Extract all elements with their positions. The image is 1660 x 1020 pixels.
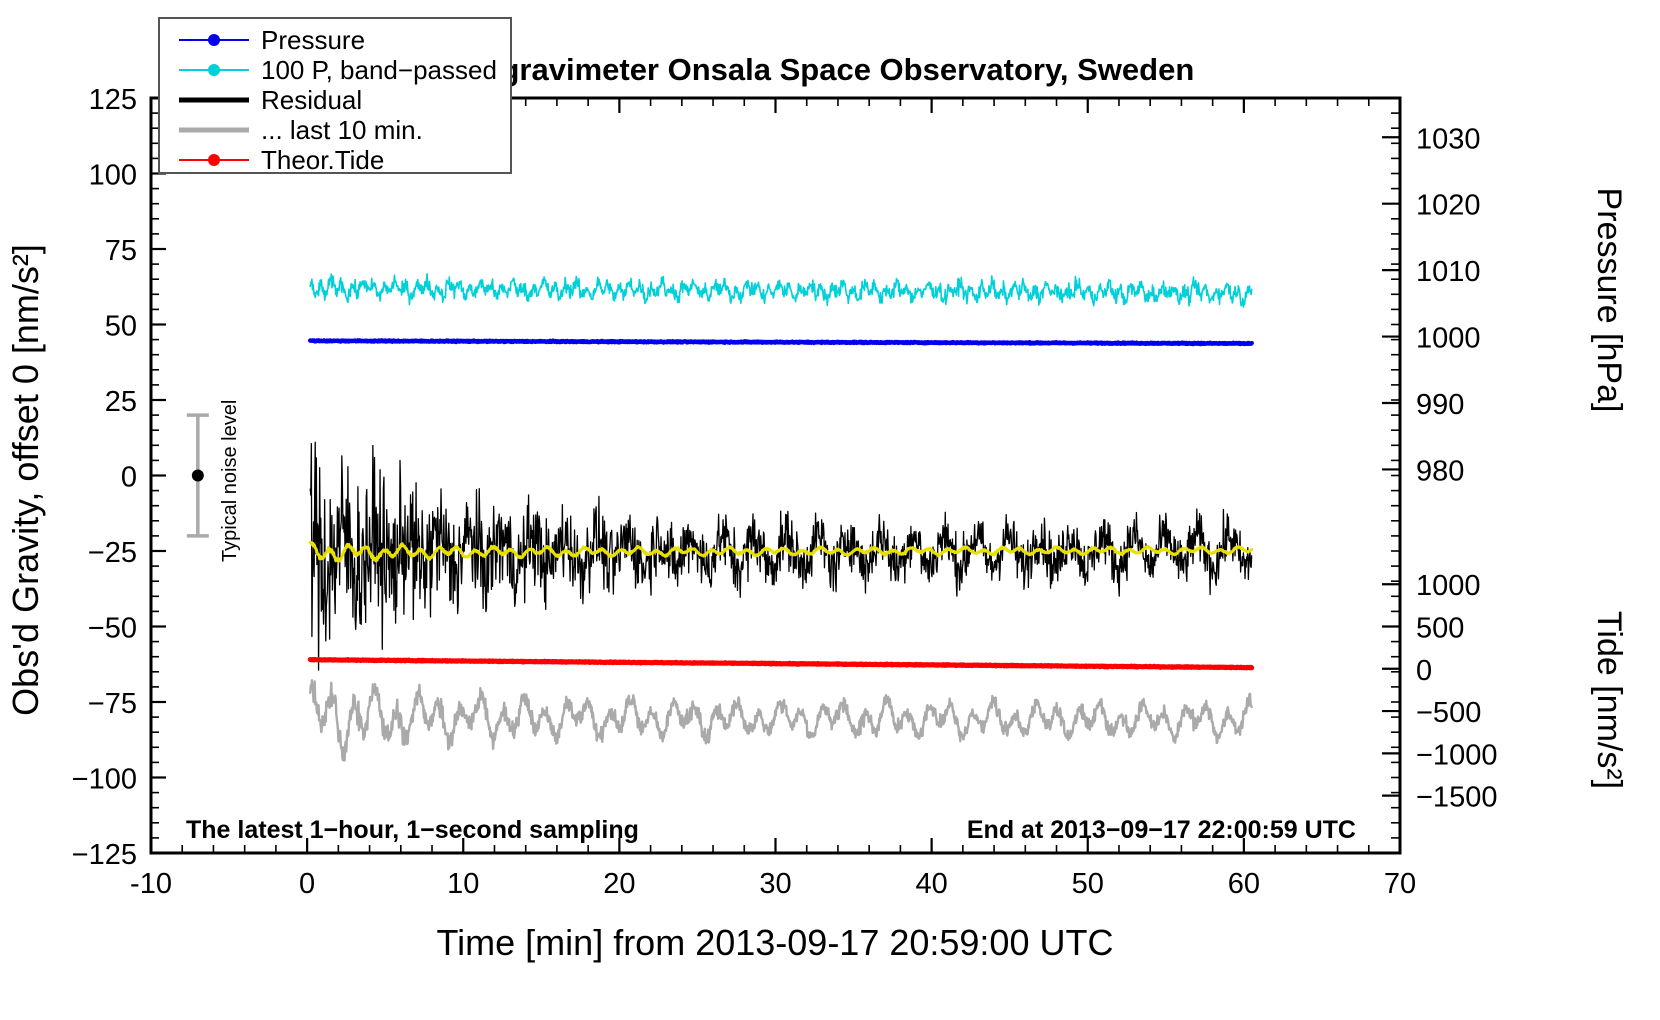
x-axis-title: Time [min] from 2013-09-17 20:59:00 UTC xyxy=(437,922,1114,963)
y-tick-label: 100 xyxy=(89,160,137,192)
x-tick-label: 50 xyxy=(1072,868,1104,900)
right-tide-tick-label: −1000 xyxy=(1416,739,1497,771)
y-tick-label: 0 xyxy=(121,462,137,494)
noise-center-dot xyxy=(192,470,204,482)
x-tick-label: 60 xyxy=(1228,868,1260,900)
y-tick-label: −50 xyxy=(88,613,137,645)
right-pressure-tick-label: 1020 xyxy=(1416,190,1481,222)
x-tick-label: 10 xyxy=(447,868,479,900)
right-tide-tick-label: 0 xyxy=(1416,655,1432,687)
right-pressure-tick-label: 1010 xyxy=(1416,256,1481,288)
y-axis-title: Obs'd Gravity, offset 0 [nm/s²] xyxy=(5,244,46,716)
legend-marker-dot xyxy=(208,154,220,166)
legend-marker-dot xyxy=(208,64,220,76)
right-tide-tick-label: 500 xyxy=(1416,613,1464,645)
legend-label: 100 P, band−passed xyxy=(261,55,497,85)
y-tick-label: −125 xyxy=(72,839,137,871)
y-tick-label: 25 xyxy=(105,386,137,418)
y-tick-label: 75 xyxy=(105,235,137,267)
gravimeter-plot-figure: Typical noise level -10010203040506070−1… xyxy=(0,0,1660,1020)
right-pressure-tick-label: 1000 xyxy=(1416,323,1481,355)
y-tick-label: −100 xyxy=(72,764,137,796)
x-tick-label: -10 xyxy=(130,868,172,900)
right-axis-title-pressure: Pressure [hPa] xyxy=(1590,188,1628,413)
y-tick-label: 50 xyxy=(105,311,137,343)
x-tick-label: 30 xyxy=(759,868,791,900)
legend-label: ... last 10 min. xyxy=(261,115,423,145)
right-axis-title-tide: Tide [nm/s²] xyxy=(1590,611,1628,789)
right-pressure-tick-label: 990 xyxy=(1416,389,1464,421)
right-tide-tick-label: −1500 xyxy=(1416,782,1497,814)
right-tide-tick-label: −500 xyxy=(1416,697,1481,729)
annotation-bottom-right: End at 2013−09−17 22:00:59 UTC xyxy=(967,816,1356,844)
annotation-bottom-left: The latest 1−hour, 1−second sampling xyxy=(186,816,639,844)
y-tick-label: 125 xyxy=(89,84,137,116)
x-tick-label: 0 xyxy=(299,868,315,900)
right-tide-tick-label: 1000 xyxy=(1416,570,1481,602)
right-pressure-tick-label: 1030 xyxy=(1416,123,1481,155)
right-pressure-tick-label: 980 xyxy=(1416,455,1464,487)
y-tick-label: −75 xyxy=(88,688,137,720)
legend-label: Pressure xyxy=(261,25,365,55)
legend-label: Theor.Tide xyxy=(261,145,384,175)
y-tick-label: −25 xyxy=(88,537,137,569)
x-tick-label: 20 xyxy=(603,868,635,900)
legend[interactable]: Pressure100 P, band−passedResidual... la… xyxy=(159,18,511,175)
typical-noise-level-label: Typical noise level xyxy=(219,400,241,562)
legend-marker-dot xyxy=(208,34,220,46)
x-tick-label: 70 xyxy=(1384,868,1416,900)
legend-label: Residual xyxy=(261,85,362,115)
x-tick-label: 40 xyxy=(915,868,947,900)
